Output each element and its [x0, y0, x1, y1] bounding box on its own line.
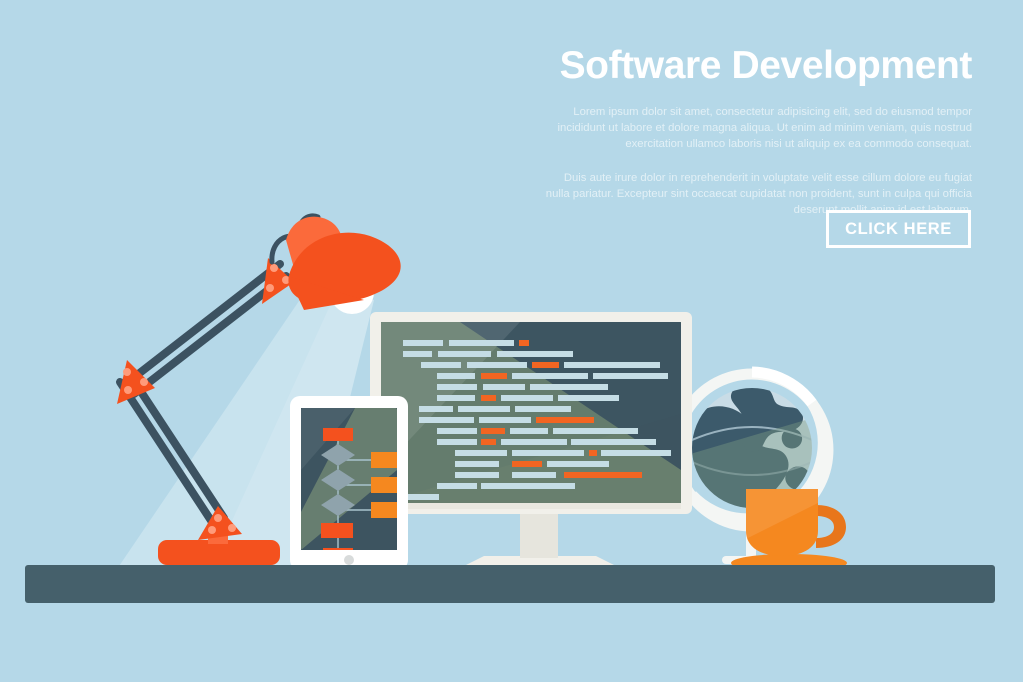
code-token	[437, 395, 475, 401]
process-box-2	[371, 477, 401, 493]
code-token	[483, 384, 525, 390]
code-token	[501, 439, 567, 445]
code-token	[564, 472, 642, 478]
code-token	[437, 483, 477, 489]
code-token	[449, 340, 514, 346]
code-token	[530, 384, 608, 390]
code-token	[438, 351, 491, 357]
code-token	[532, 362, 559, 368]
code-token	[419, 417, 474, 423]
start-box	[323, 428, 353, 441]
code-token	[403, 494, 439, 500]
code-token	[437, 439, 477, 445]
code-token	[481, 395, 496, 401]
code-token	[564, 362, 660, 368]
code-token	[497, 351, 573, 357]
code-token	[419, 406, 453, 412]
code-token	[458, 406, 510, 412]
code-token	[455, 472, 499, 478]
code-token	[589, 450, 597, 456]
code-token	[481, 428, 505, 434]
code-token	[510, 428, 548, 434]
code-token	[512, 461, 542, 467]
code-token	[467, 362, 527, 368]
desk	[25, 565, 995, 603]
code-token	[403, 351, 432, 357]
code-token	[437, 428, 477, 434]
code-token	[571, 439, 656, 445]
hero-paragraph-1: Lorem ipsum dolor sit amet, consectetur …	[540, 104, 972, 152]
code-token	[481, 439, 496, 445]
process-box-4	[321, 523, 353, 538]
code-token	[536, 417, 594, 423]
code-token	[519, 340, 529, 346]
code-token	[553, 428, 638, 434]
code-token	[593, 373, 668, 379]
code-token	[481, 373, 507, 379]
illustration-canvas: Software Development Lorem ipsum dolor s…	[0, 0, 1023, 682]
tablet	[290, 396, 413, 570]
code-token	[437, 384, 477, 390]
code-token	[481, 483, 575, 489]
page-title: Software Development	[540, 46, 972, 87]
code-token	[437, 373, 475, 379]
code-token	[501, 395, 553, 401]
hero-text-block: Software Development Lorem ipsum dolor s…	[540, 46, 972, 218]
code-token	[403, 340, 443, 346]
code-token	[455, 450, 507, 456]
code-token	[515, 406, 571, 412]
code-token	[512, 450, 584, 456]
code-token	[479, 417, 531, 423]
code-token	[558, 395, 619, 401]
process-box-3	[371, 502, 401, 518]
code-token	[512, 472, 556, 478]
click-here-button[interactable]: CLICK HERE	[826, 210, 971, 248]
process-box-1	[371, 452, 401, 468]
monitor-stand	[520, 512, 558, 558]
code-token	[455, 461, 499, 467]
code-token	[547, 461, 609, 467]
tablet-home-button[interactable]	[344, 555, 354, 565]
code-token	[512, 373, 588, 379]
code-token	[601, 450, 671, 456]
code-token	[421, 362, 461, 368]
